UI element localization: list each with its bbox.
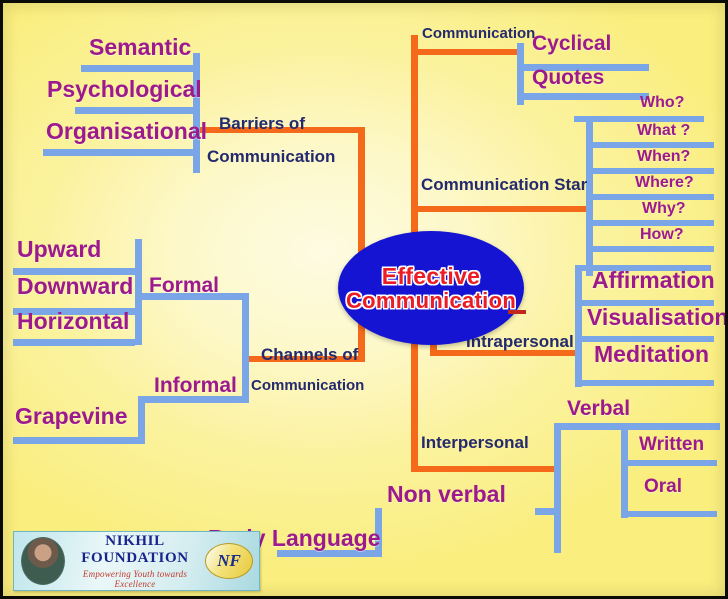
center-node-line1: Effective	[382, 264, 481, 289]
branch-nonverbal-link	[535, 508, 561, 515]
leaf-oral[interactable]: Oral	[644, 477, 682, 496]
node-formal[interactable]: Formal	[149, 275, 219, 296]
center-node-line2: Communication	[346, 289, 516, 313]
branch-formal-spine	[135, 239, 142, 345]
branch-verbal-spine	[621, 430, 628, 518]
branch-intrapersonal-spine	[575, 265, 582, 387]
leaf-organisational[interactable]: Organisational	[46, 120, 207, 143]
center-node-underline	[508, 310, 526, 314]
trunk-communication-star	[411, 206, 591, 212]
branch-interpersonal-spine	[554, 423, 561, 553]
logo-text-block: NIKHIL FOUNDATION Empowering Youth towar…	[65, 533, 205, 589]
branch-verbal	[560, 423, 720, 430]
leaf-why[interactable]: Why?	[642, 201, 686, 217]
node-barriers-line1[interactable]: Barriers of	[219, 115, 305, 132]
leaf-who[interactable]: Who?	[640, 95, 684, 111]
node-barriers-line2[interactable]: Communication	[207, 148, 335, 165]
leaf-quotes[interactable]: Quotes	[532, 67, 604, 88]
leaf-how[interactable]: How?	[640, 227, 684, 243]
leaf-grapevine[interactable]: Grapevine	[15, 405, 128, 428]
branch-quotes	[523, 93, 649, 100]
trunk-interpersonal	[411, 466, 561, 472]
node-interpersonal[interactable]: Interpersonal	[421, 434, 529, 451]
center-node[interactable]: Effective Communication	[338, 231, 524, 345]
leaf-what[interactable]: What ?	[637, 123, 690, 139]
leaf-affirmation[interactable]: Affirmation	[592, 269, 715, 292]
branch-channels-spine	[242, 293, 249, 403]
logo-tagline: Empowering Youth towards Excellence	[67, 569, 203, 589]
leaf-meditation[interactable]: Meditation	[594, 343, 709, 366]
leaf-psychological[interactable]: Psychological	[47, 78, 202, 101]
branch-semantic	[81, 65, 195, 72]
leaf-horizontal[interactable]: Horizontal	[17, 310, 129, 333]
node-channels-line1[interactable]: Channels of	[261, 346, 358, 363]
leaf-cyclical[interactable]: Cyclical	[532, 33, 611, 54]
branch-grapevine	[13, 437, 145, 444]
leaf-non-verbal[interactable]: Non verbal	[387, 483, 506, 506]
branch-how	[592, 246, 714, 252]
mindmap-canvas: Semantic Psychological Organisational Ba…	[0, 0, 728, 599]
leaf-where[interactable]: Where?	[635, 175, 694, 191]
leaf-visualisation[interactable]: Visualisation	[587, 306, 728, 329]
trunk-communication	[411, 49, 521, 55]
logo-banner[interactable]: NIKHIL FOUNDATION Empowering Youth towar…	[13, 531, 260, 591]
node-channels-line2[interactable]: Communication	[251, 378, 364, 393]
nf-monogram-label: NF	[217, 551, 241, 571]
branch-psychological	[75, 107, 195, 114]
branch-body-language	[277, 550, 382, 557]
leaf-when[interactable]: When?	[637, 149, 690, 165]
leaf-semantic[interactable]: Semantic	[89, 36, 191, 59]
branch-intrapersonal-base	[581, 380, 714, 386]
leaf-upward[interactable]: Upward	[17, 238, 101, 261]
portrait-photo-icon	[21, 537, 65, 585]
leaf-written[interactable]: Written	[639, 435, 704, 454]
logo-title: NIKHIL FOUNDATION	[67, 533, 203, 567]
leaf-downward[interactable]: Downward	[17, 275, 133, 298]
node-communication-star[interactable]: Communication Star	[421, 176, 587, 193]
branch-written	[627, 460, 717, 466]
branch-oral	[627, 511, 717, 517]
node-communication[interactable]: Communication	[422, 26, 535, 41]
branch-informal	[142, 396, 249, 403]
branch-horizontal	[13, 339, 135, 346]
branch-organisational	[43, 149, 195, 156]
leaf-verbal[interactable]: Verbal	[567, 398, 630, 419]
node-informal[interactable]: Informal	[154, 375, 237, 396]
nf-monogram-icon: NF	[205, 543, 253, 579]
